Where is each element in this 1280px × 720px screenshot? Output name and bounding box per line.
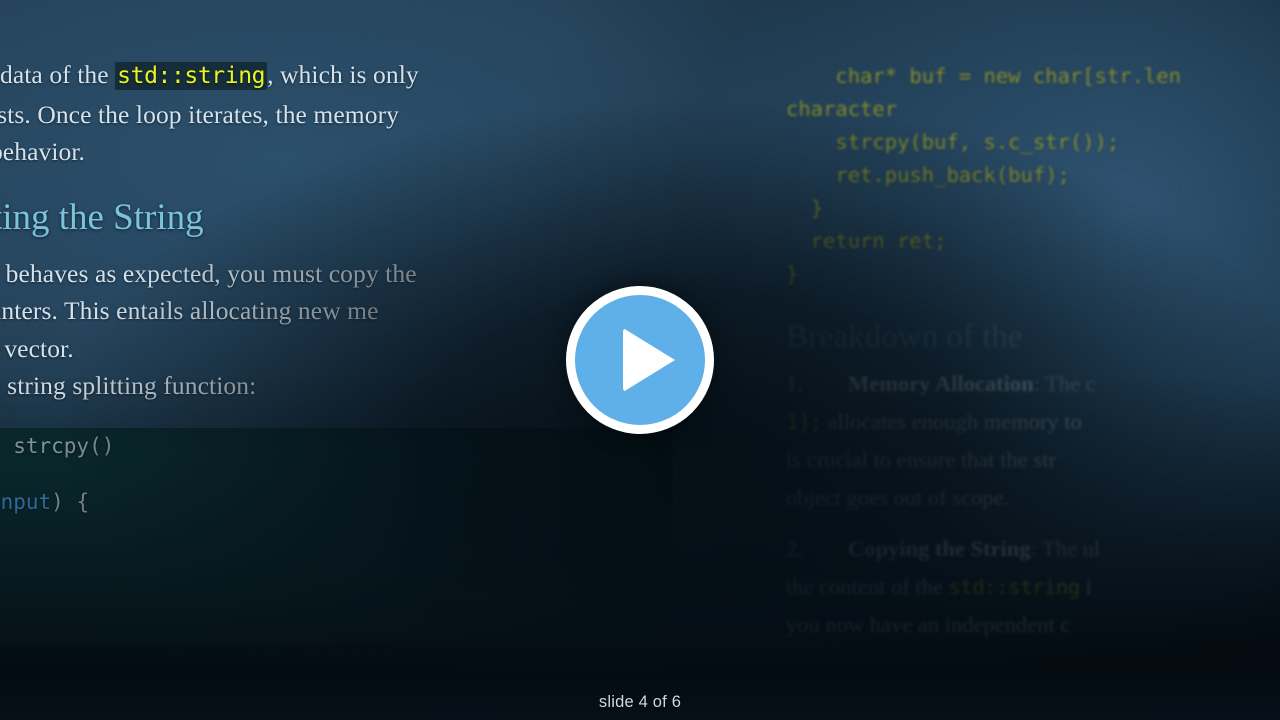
play-icon (623, 328, 675, 392)
play-button[interactable] (566, 286, 714, 434)
slide-video-player: nternal data of the std::string, which i… (0, 0, 1280, 720)
slide-counter: slide 4 of 6 (0, 693, 1280, 712)
